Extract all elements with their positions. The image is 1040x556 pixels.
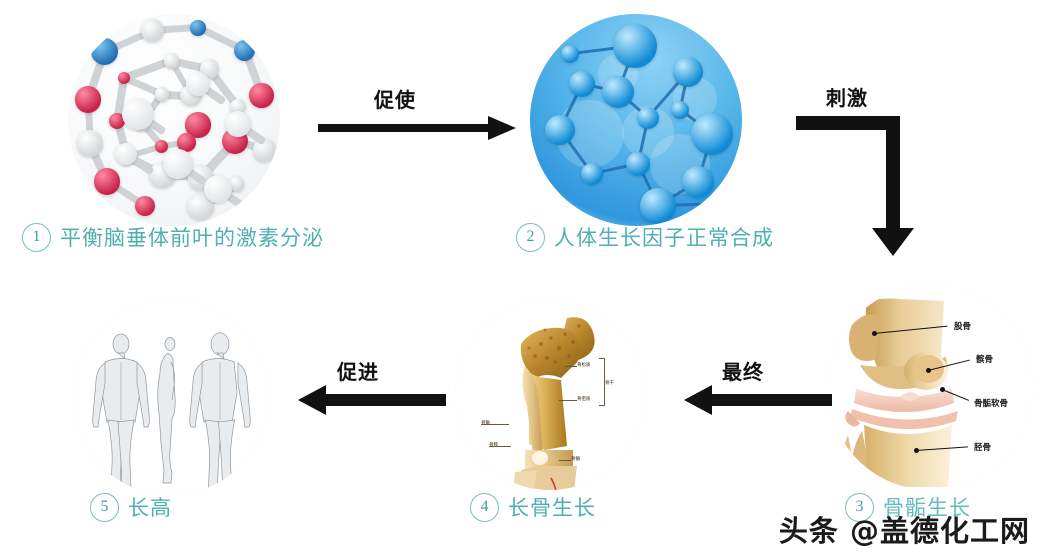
watermark: 头条 @盖德化工网 [779,508,1030,550]
molecule-atom [122,98,154,130]
step-1-caption: 1 平衡脑垂体前叶的激素分泌 [22,222,324,252]
molecule-atom [164,53,180,69]
bone-callout-label: 骨骺 [481,420,490,426]
molecule-atom [602,76,634,108]
bone-callout-line [559,460,571,461]
molecule-atom [626,152,650,176]
step-4-number: 4 [470,493,499,522]
step-4-label: 长骨生长 [508,492,596,522]
molecule-atom [118,72,130,84]
molecule-atom [640,188,676,224]
bone-callout-line [565,366,577,367]
molecule-atom [77,130,104,157]
step-1-number: 1 [22,223,51,252]
bone-callout-label: 骨松质 [577,362,591,368]
molecule-atom [581,163,603,185]
step-2-label: 人体生长因子正常合成 [554,222,774,252]
bone-callout-label: 骨髓 [571,456,580,462]
arrow-3-left-icon [682,382,832,418]
molecule-atom [691,113,733,155]
molecule-atom [163,149,193,179]
molecule-atom [671,101,689,119]
bone-callout-line [489,446,511,447]
molecule-atom [141,19,164,42]
arrow-4-left-icon [296,382,446,418]
knee-callout-label: 髌骨 [976,353,993,365]
molecule-atom [569,71,595,97]
arrow-4-label: 促进 [337,356,379,385]
human-body-figures-icon [73,300,268,495]
molecule-atom [155,87,169,101]
step-5-number: 5 [90,493,119,522]
step-2-caption: 2 人体生长因子正常合成 [516,222,774,252]
molecule-atom [155,140,168,153]
bone-callout-label: 骨干 [605,380,614,386]
human-figures-illustration [73,300,268,495]
knee-illustration [828,285,1033,490]
knee-callout-label: 骨骺软骨 [974,397,1008,409]
step-4-caption: 4 长骨生长 [470,492,596,522]
bone-callout-label: 骨密质 [577,396,591,402]
molecule-atom [637,107,659,129]
step-5-caption: 5 长高 [90,492,172,522]
knee-callout-label: 股骨 [954,320,971,332]
molecule-atom [75,86,101,112]
molecule-atom [186,72,210,96]
molecule-atom [673,57,703,87]
molecule-atom [94,168,121,195]
molecule-atom [204,175,232,203]
step-5-label: 长高 [128,492,172,522]
femur-illustration [455,300,645,490]
molecule-atom [545,115,575,145]
arrow-1-label: 促使 [374,84,416,113]
molecule-atom [190,20,206,36]
molecule-white-model-icon [68,14,280,226]
bone-callout-line [481,424,509,425]
molecule-blue-model-icon [530,14,742,226]
step-2-number: 2 [516,223,545,252]
molecule-atom [716,194,736,214]
molecule-atom [115,143,137,165]
arrow-1-right-icon [318,110,518,146]
molecule-atom [682,166,714,198]
molecule-atom [249,83,273,107]
knee-joint-anatomy-icon: 股骨髌骨骨骺软骨胫骨 [828,285,1033,490]
diagram-canvas: 1 平衡脑垂体前叶的激素分泌 2 人体生长因子正常合成 股骨髌骨骨骺软骨胫骨 3… [0,0,1040,556]
arrow-2-down-right-icon [790,110,950,260]
molecule-atom [91,38,118,65]
bone-callout-line [559,400,577,401]
arrow-2-label: 刺激 [826,82,868,111]
bone-callout-label: 骨膜 [489,442,498,448]
arrow-3-label: 最终 [722,356,764,385]
molecule-atom [561,45,579,63]
molecule-atom [613,24,657,68]
knee-callout-label: 胫骨 [974,441,991,453]
molecule-atom [135,196,155,216]
bone-shaft-bracket [599,358,605,406]
step-1-label: 平衡脑垂体前叶的激素分泌 [60,222,324,252]
molecule-atom [225,111,251,137]
femur-bone-anatomy-icon: 骨松质骨密质骨干骨骺骨膜骨髓 [455,300,645,490]
